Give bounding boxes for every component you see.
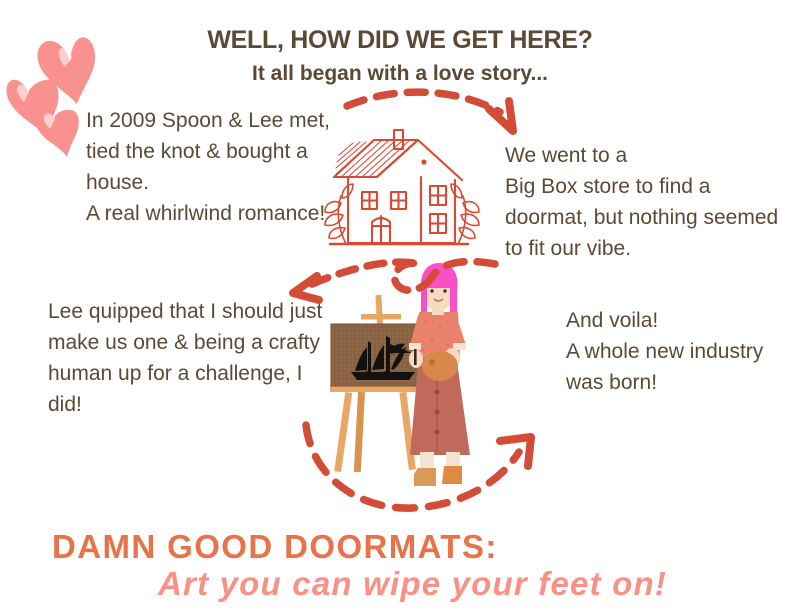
- boot-left: [414, 468, 436, 486]
- brand-name: DAMN GOOD DOORMATS:: [52, 528, 498, 566]
- arrow-2-dashed-tail: [432, 262, 495, 277]
- mouth: [434, 299, 443, 301]
- window-upper-left: [362, 192, 377, 209]
- roof-right: [377, 140, 462, 180]
- hand-right: [444, 348, 460, 368]
- gable-vent: [421, 159, 426, 164]
- easel: [330, 295, 430, 472]
- tall-ship-silhouette: [351, 336, 415, 380]
- arrow-1-head: [489, 101, 513, 131]
- face: [421, 273, 455, 311]
- brand-tagline: Art you can wipe your feet on!: [158, 565, 667, 603]
- plant-right: [451, 184, 479, 244]
- blouse: [417, 312, 460, 358]
- leg-right: [446, 452, 460, 474]
- window-right-upper: [430, 186, 446, 205]
- paint-brush: [414, 349, 417, 365]
- paint-palette: [422, 351, 458, 381]
- window-upper-mid: [391, 192, 406, 209]
- doormat-on-easel: [331, 324, 434, 386]
- page-subtitle: It all began with a love story...: [0, 62, 800, 86]
- arrow-2-dashed-loop: [303, 262, 432, 290]
- neck: [432, 303, 444, 315]
- leg-left: [420, 452, 434, 474]
- hand-left: [409, 350, 423, 368]
- skirt: [410, 355, 470, 455]
- story-step-4: And voila! A whole new industry was born…: [566, 305, 796, 398]
- story-step-1: In 2009 Spoon & Lee met, tied the knot &…: [86, 105, 356, 229]
- arm-right-sleeve: [451, 315, 466, 350]
- eye-right: [443, 289, 446, 292]
- page-title: WELL, HOW DID WE GET HERE?: [0, 26, 800, 55]
- boot-right: [442, 466, 462, 484]
- chimney: [394, 130, 403, 149]
- hair: [421, 263, 458, 312]
- story-step-3: Lee quipped that I should just make us o…: [48, 296, 328, 420]
- artist-figure: [409, 263, 470, 486]
- eye-left: [430, 289, 433, 292]
- infographic-canvas: WELL, HOW DID WE GET HERE? It all began …: [0, 0, 800, 611]
- arrow-3-dashed-path: [306, 425, 519, 508]
- window-right-lower: [430, 214, 446, 233]
- house-body: [348, 177, 455, 243]
- arrow-3-head: [500, 437, 531, 466]
- front-door: [372, 216, 390, 243]
- arm-left-sleeve: [410, 315, 425, 349]
- story-step-2: We went to a Big Box store to find a doo…: [505, 140, 795, 264]
- heart-icon-bottom: [35, 109, 79, 157]
- arrow-1-dashed-path: [347, 92, 500, 112]
- heart-icon-left: [6, 80, 58, 137]
